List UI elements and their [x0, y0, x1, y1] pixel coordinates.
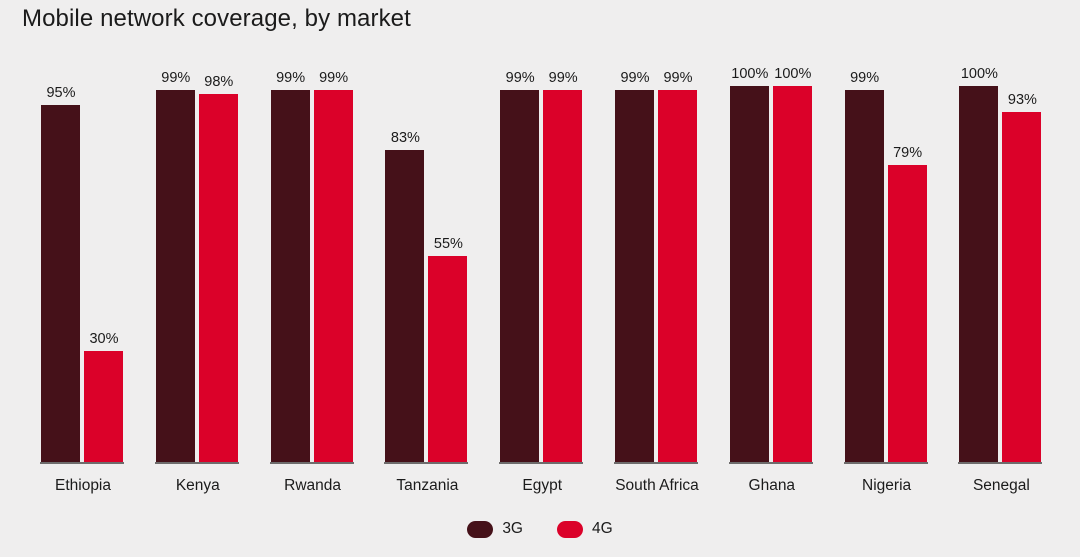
bar-ghana-3g[interactable] [730, 86, 769, 464]
plot-area: 95%30%Ethiopia99%98%Kenya99%99%Rwanda83%… [0, 0, 1080, 464]
bar-rwanda-3g[interactable] [271, 90, 310, 464]
bar-rwanda-4g[interactable] [314, 90, 353, 464]
bar-kenya-3g[interactable] [156, 90, 195, 464]
bar-value-label: 98% [192, 74, 246, 90]
bar-value-label: 30% [77, 331, 131, 347]
bar-south-africa-3g[interactable] [615, 90, 654, 464]
bar-kenya-4g[interactable] [199, 94, 238, 464]
bar-group: 83%55%Tanzania [385, 0, 467, 464]
bar-group: 99%99%Egypt [500, 0, 582, 464]
axis-baseline [729, 462, 813, 464]
bar-egypt-4g[interactable] [543, 90, 582, 464]
bar-senegal-4g[interactable] [1002, 112, 1041, 464]
bar-group: 100%100%Ghana [730, 0, 812, 464]
bar-nigeria-4g[interactable] [888, 165, 927, 464]
axis-baseline [499, 462, 583, 464]
bar-value-label: 93% [995, 92, 1049, 108]
bar-value-label: 100% [766, 66, 820, 82]
bar-ethiopia-3g[interactable] [41, 105, 80, 464]
bar-group-bars: 100%100% [730, 0, 812, 464]
category-label: Senegal [911, 477, 1080, 495]
bar-ghana-4g[interactable] [773, 86, 812, 464]
legend-item-4g[interactable]: 4G [557, 520, 613, 538]
bar-ethiopia-4g[interactable] [84, 351, 123, 464]
bar-group-bars: 99%99% [271, 0, 353, 464]
legend-swatch-icon [557, 521, 583, 538]
bar-group: 95%30%Ethiopia [41, 0, 123, 464]
bar-value-label: 79% [881, 145, 935, 161]
bar-group-bars: 83%55% [385, 0, 467, 464]
bar-group-bars: 99%79% [845, 0, 927, 464]
chart-legend: 3G4G [0, 520, 1080, 538]
legend-item-3g[interactable]: 3G [467, 520, 523, 538]
bar-group-bars: 99%99% [500, 0, 582, 464]
bar-group-bars: 100%93% [959, 0, 1041, 464]
legend-swatch-icon [467, 521, 493, 538]
bar-egypt-3g[interactable] [500, 90, 539, 464]
legend-label: 4G [592, 520, 613, 538]
axis-baseline [155, 462, 239, 464]
axis-baseline [40, 462, 124, 464]
bar-value-label: 99% [838, 70, 892, 86]
bar-value-label: 95% [34, 85, 88, 101]
axis-baseline [844, 462, 928, 464]
bar-value-label: 55% [421, 236, 475, 252]
bar-group-bars: 99%99% [615, 0, 697, 464]
bar-group-bars: 95%30% [41, 0, 123, 464]
bar-value-label: 99% [307, 70, 361, 86]
bar-group: 99%79%Nigeria [845, 0, 927, 464]
bar-value-label: 83% [378, 130, 432, 146]
axis-baseline [270, 462, 354, 464]
bar-value-label: 99% [536, 70, 590, 86]
bar-group: 99%99%South Africa [615, 0, 697, 464]
bar-tanzania-4g[interactable] [428, 256, 467, 464]
bar-group: 99%99%Rwanda [271, 0, 353, 464]
bar-nigeria-3g[interactable] [845, 90, 884, 464]
bar-value-label: 99% [651, 70, 705, 86]
axis-baseline [614, 462, 698, 464]
bar-senegal-3g[interactable] [959, 86, 998, 464]
bar-group: 100%93%Senegal [959, 0, 1041, 464]
bar-group-bars: 99%98% [156, 0, 238, 464]
bar-south-africa-4g[interactable] [658, 90, 697, 464]
axis-baseline [958, 462, 1042, 464]
bar-value-label: 100% [952, 66, 1006, 82]
axis-baseline [384, 462, 468, 464]
bar-group: 99%98%Kenya [156, 0, 238, 464]
bar-tanzania-3g[interactable] [385, 150, 424, 464]
chart-container: Mobile network coverage, by market 95%30… [0, 0, 1080, 557]
legend-label: 3G [502, 520, 523, 538]
